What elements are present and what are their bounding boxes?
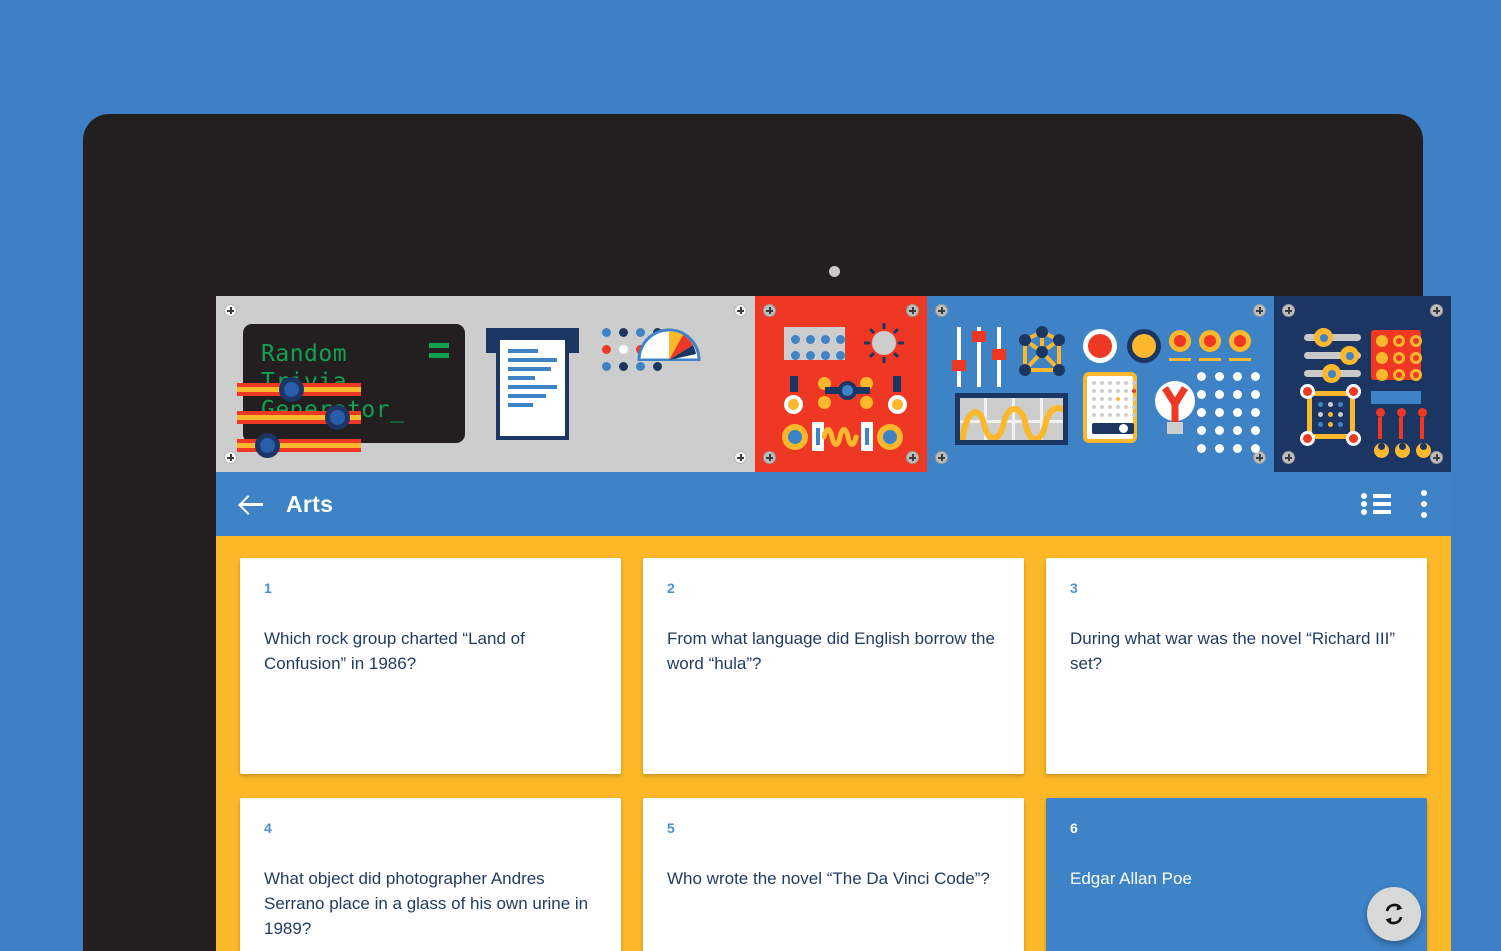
indicator-light xyxy=(888,395,907,414)
card-number: 1 xyxy=(264,580,597,596)
screw-icon xyxy=(935,451,948,464)
hero-panel-red xyxy=(755,296,927,472)
waveform-icon xyxy=(822,426,862,448)
fader-control[interactable] xyxy=(977,327,981,387)
screw-icon xyxy=(763,451,776,464)
content-area: 1 Which rock group charted “Land of Conf… xyxy=(216,536,1451,951)
dial-icon[interactable] xyxy=(782,424,808,450)
webcam-dot xyxy=(829,266,840,277)
card-text: From what language did English borrow th… xyxy=(667,626,1000,676)
lever-control[interactable] xyxy=(1374,408,1389,458)
question-card[interactable]: 2 From what language did English borrow … xyxy=(643,558,1024,774)
slider-control[interactable] xyxy=(1304,334,1361,341)
refresh-fab-button[interactable] xyxy=(1367,887,1421,941)
screw-icon xyxy=(734,451,747,464)
lever-control[interactable] xyxy=(1395,408,1410,458)
rotary-dial-icon[interactable] xyxy=(863,322,905,364)
screw-icon xyxy=(734,304,747,317)
corner-node xyxy=(1300,384,1315,399)
card-number: 5 xyxy=(667,820,1000,836)
refresh-icon xyxy=(1381,901,1407,927)
list-view-icon[interactable] xyxy=(1361,493,1391,515)
handheld-device-icon xyxy=(1083,372,1137,443)
network-node-icon xyxy=(1015,326,1069,382)
question-card[interactable]: 1 Which rock group charted “Land of Conf… xyxy=(240,558,621,774)
screw-icon xyxy=(1430,451,1443,464)
dial-icon[interactable] xyxy=(877,424,903,450)
indicator-light xyxy=(860,396,873,409)
screw-icon xyxy=(1430,304,1443,317)
indicator-light xyxy=(784,395,803,414)
card-text: Which rock group charted “Land of Confus… xyxy=(264,626,597,676)
more-options-icon[interactable] xyxy=(1421,490,1427,518)
slider-control[interactable] xyxy=(237,383,361,396)
document-icon xyxy=(486,328,579,440)
screw-icon xyxy=(935,304,948,317)
page-title: Arts xyxy=(286,491,333,518)
hero-panel-navy xyxy=(1274,296,1451,472)
back-arrow-icon[interactable] xyxy=(240,492,264,516)
question-card[interactable]: 3 During what war was the novel “Richard… xyxy=(1046,558,1427,774)
red-dial-icon[interactable] xyxy=(1083,329,1117,363)
card-number: 2 xyxy=(667,580,1000,596)
card-number: 3 xyxy=(1070,580,1403,596)
indicator-light xyxy=(790,376,798,392)
slider-control[interactable] xyxy=(1304,352,1361,359)
screw-icon xyxy=(224,304,237,317)
corner-node xyxy=(1346,431,1361,446)
laptop-screen: Random Trivia Generator_ xyxy=(216,296,1451,951)
white-dot-matrix xyxy=(1197,372,1260,453)
card-text: Edgar Allan Poe xyxy=(1070,866,1403,891)
small-dial-icon[interactable] xyxy=(1199,330,1221,352)
app-bar: Arts xyxy=(216,472,1451,536)
terminal-menu-icon xyxy=(429,343,449,363)
laptop-frame: Random Trivia Generator_ xyxy=(83,114,1423,951)
question-card-grid: 1 Which rock group charted “Land of Conf… xyxy=(240,558,1427,951)
answer-card-selected[interactable]: 6 Edgar Allan Poe xyxy=(1046,798,1427,951)
keypad-module[interactable] xyxy=(1371,330,1421,380)
indicator-light xyxy=(818,396,831,409)
lever-control[interactable] xyxy=(1416,408,1431,458)
question-card[interactable]: 5 Who wrote the novel “The Da Vinci Code… xyxy=(643,798,1024,951)
chip-module xyxy=(784,327,845,360)
gauge-meter-icon xyxy=(636,327,702,361)
screw-icon xyxy=(1253,304,1266,317)
screw-icon xyxy=(1282,451,1295,464)
screw-icon xyxy=(906,304,919,317)
toggle-switch-knob[interactable] xyxy=(838,381,857,400)
progress-bar xyxy=(1371,391,1421,404)
card-text: During what war was the novel “Richard I… xyxy=(1070,626,1403,676)
card-number: 6 xyxy=(1070,820,1403,836)
slider-control[interactable] xyxy=(1304,370,1361,377)
hero-banner-illustration: Random Trivia Generator_ xyxy=(216,296,1451,472)
card-number: 4 xyxy=(264,820,597,836)
card-text: Who wrote the novel “The Da Vinci Code”? xyxy=(667,866,1000,891)
screw-icon xyxy=(906,451,919,464)
hero-panel-blue xyxy=(927,296,1274,472)
small-dial-icon[interactable] xyxy=(1169,330,1191,352)
oscilloscope-display xyxy=(955,393,1068,445)
screw-icon xyxy=(1282,304,1295,317)
screw-icon xyxy=(224,451,237,464)
corner-node xyxy=(1300,431,1315,446)
screw-icon xyxy=(763,304,776,317)
hero-panel-gray: Random Trivia Generator_ xyxy=(216,296,755,472)
fader-control[interactable] xyxy=(997,327,1001,387)
fader-control[interactable] xyxy=(957,327,961,387)
yellow-dial-icon[interactable] xyxy=(1127,329,1161,363)
small-dial-icon[interactable] xyxy=(1229,330,1251,352)
slider-control[interactable] xyxy=(237,439,361,452)
slider-control[interactable] xyxy=(237,411,361,424)
card-text: What object did photographer Andres Serr… xyxy=(264,866,597,941)
corner-node xyxy=(1346,384,1361,399)
indicator-light xyxy=(893,376,901,392)
question-card[interactable]: 4 What object did photographer Andres Se… xyxy=(240,798,621,951)
lightbulb-icon xyxy=(1155,378,1195,438)
